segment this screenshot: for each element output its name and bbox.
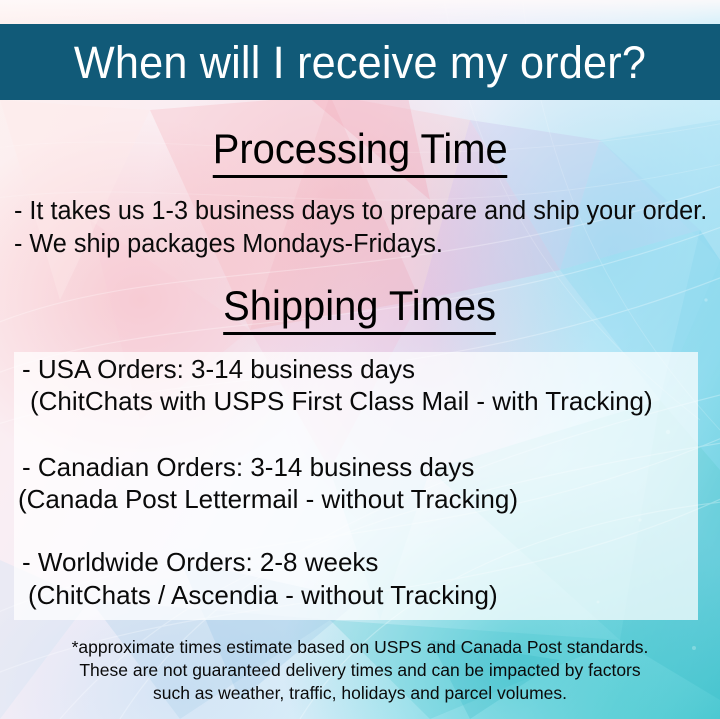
shipping-entry-canada-title: - Canadian Orders: 3-14 business days bbox=[22, 454, 474, 480]
shipping-entry-worldwide-detail: (ChitChats / Ascendia - without Tracking… bbox=[28, 582, 498, 608]
shipping-info-poster: When will I receive my order? Processing… bbox=[0, 0, 720, 719]
shipping-entry-canada-detail: (Canada Post Lettermail - without Tracki… bbox=[18, 486, 518, 512]
footnote: *approximate times estimate based on USP… bbox=[0, 636, 720, 705]
shipping-entry-usa-detail: (ChitChats with USPS First Class Mail - … bbox=[30, 388, 653, 414]
footnote-line-2: These are not guaranteed delivery times … bbox=[0, 659, 720, 682]
shipping-entry-usa-title: - USA Orders: 3-14 business days bbox=[22, 356, 415, 382]
poster-content: Processing Time - It takes us 1-3 busine… bbox=[0, 0, 720, 719]
processing-time-line-1: - It takes us 1-3 business days to prepa… bbox=[14, 199, 707, 225]
section-heading-shipping-times-label: Shipping Times bbox=[224, 285, 497, 335]
section-heading-processing-time-label: Processing Time bbox=[213, 128, 508, 178]
shipping-entry-worldwide-title: - Worldwide Orders: 2-8 weeks bbox=[22, 549, 378, 575]
section-heading-processing-time: Processing Time bbox=[0, 128, 720, 178]
footnote-line-1: *approximate times estimate based on USP… bbox=[0, 636, 720, 659]
section-heading-shipping-times: Shipping Times bbox=[0, 285, 720, 335]
footnote-line-3: such as weather, traffic, holidays and p… bbox=[0, 682, 720, 705]
processing-time-line-2: - We ship packages Mondays-Fridays. bbox=[14, 232, 443, 258]
